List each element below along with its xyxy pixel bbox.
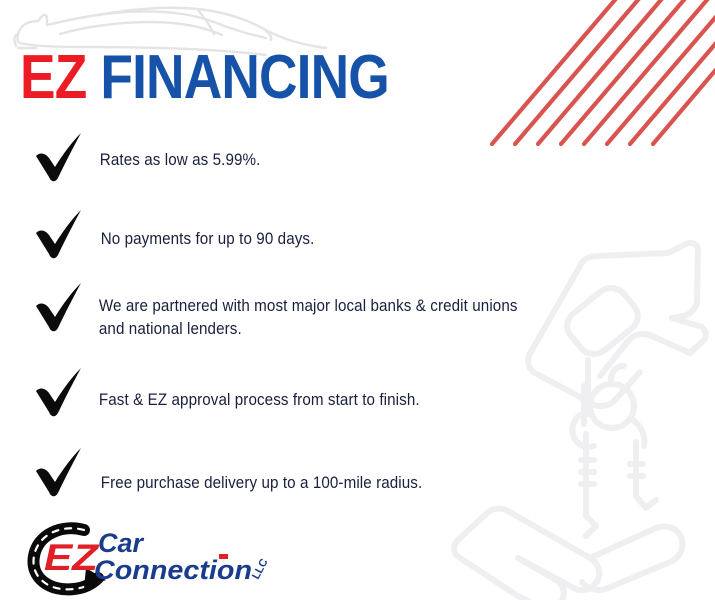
ez-car-connection-logo: EZ Car Connection LLC xyxy=(22,518,284,596)
benefit-text-2: We are partnered with most major local b… xyxy=(86,282,518,341)
check-icon xyxy=(30,132,86,184)
benefit-text-0: Rates as low as 5.99%. xyxy=(86,132,260,172)
headline-financing: FINANCING xyxy=(100,43,388,112)
page-title: EZ FINANCING xyxy=(20,47,389,109)
check-icon xyxy=(30,367,86,419)
benefit-text-4: Free purchase delivery up to a 100-mile … xyxy=(86,447,422,495)
logo-ez-text: EZ xyxy=(44,537,100,578)
check-icon xyxy=(30,209,86,261)
benefit-item-4: Free purchase delivery up to a 100-mile … xyxy=(30,447,452,499)
benefit-item-3: Fast & EZ approval process from start to… xyxy=(30,367,449,419)
benefit-text-3: Fast & EZ approval process from start to… xyxy=(86,367,420,412)
headline-separator xyxy=(86,43,100,112)
benefit-item-1: No payments for up to 90 days. xyxy=(30,209,334,261)
headline-ez: EZ xyxy=(20,43,86,112)
check-icon xyxy=(30,447,86,499)
logo-accent-dot xyxy=(219,554,228,559)
benefit-text-1: No payments for up to 90 days. xyxy=(86,209,314,251)
logo-word-connection: Connection xyxy=(94,555,252,585)
benefit-item-2: We are partnered with most major local b… xyxy=(30,282,555,341)
logo-llc-suffix: LLC xyxy=(250,557,271,582)
benefit-item-0: Rates as low as 5.99%. xyxy=(30,132,276,184)
logo-word-car: Car xyxy=(98,528,145,558)
ez-financing-poster: EZ FINANCING Rates as low as 5.99%. No p… xyxy=(0,0,715,600)
check-icon xyxy=(30,282,86,334)
diagonal-stripes xyxy=(480,0,715,152)
